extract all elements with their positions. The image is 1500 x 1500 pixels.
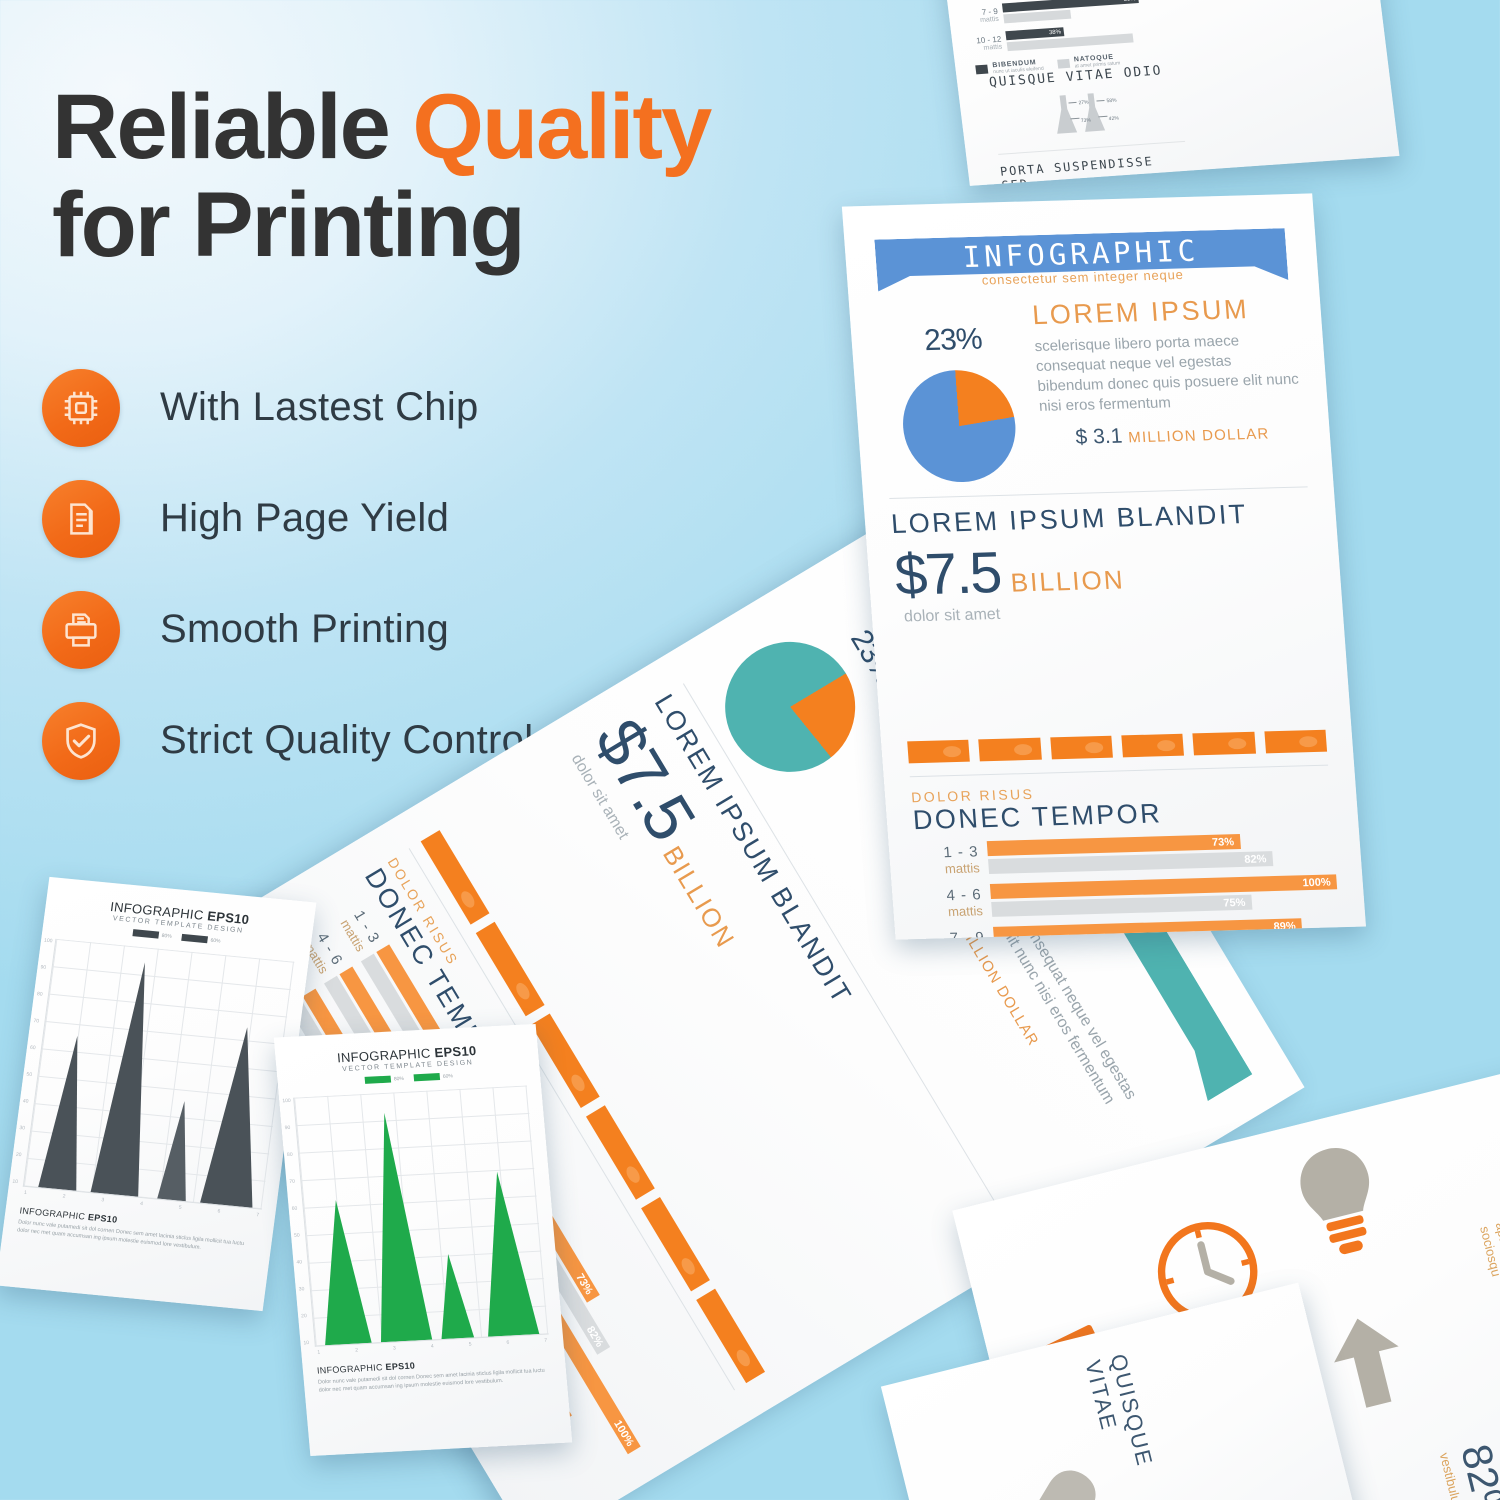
- feature-item-smooth-printing: Smooth Printing: [42, 574, 742, 685]
- sheet-peak-chart-green: INFOGRAPHIC EPS10 VECTOR TEMPLATE DESIGN…: [274, 1024, 572, 1456]
- feature-item-chip: With Lastest Chip: [42, 352, 742, 463]
- shield-check-icon: [42, 702, 120, 780]
- svg-text:58%: 58%: [1107, 98, 1118, 105]
- flask-pair-icon: 27% 73% 58% 42%: [1050, 89, 1126, 140]
- pie-chart: [899, 369, 1019, 484]
- bar-value: 89%: [1123, 0, 1136, 2]
- feature-item-page-yield: High Page Yield: [42, 463, 742, 574]
- swatch-bar: [132, 929, 159, 938]
- swatch-bar: [181, 934, 208, 943]
- lorem-title: LOREM IPSUM: [1031, 293, 1295, 331]
- peak-chart-plot: 10090 8070 6050 4030 2010: [293, 1085, 549, 1346]
- lightbulb-icon: [1272, 1129, 1406, 1272]
- bar-category: 4 - 6mattis: [918, 886, 992, 920]
- swatch-item: 60%: [414, 1072, 454, 1081]
- billion-row: $7.5 BILLION: [893, 530, 1316, 609]
- year-column: 2015: [1193, 732, 1256, 755]
- divider: [910, 765, 1328, 778]
- bar-value: 82%: [1244, 853, 1267, 866]
- lorem-body: scelerisque libero porta maece consequat…: [1034, 330, 1302, 417]
- peak-series-green: [294, 1085, 549, 1345]
- pct-column: 23%: [875, 300, 1038, 484]
- bar-category-range: 1 - 3: [915, 843, 979, 862]
- swatch-bar: [414, 1073, 441, 1081]
- peak-chart-plot: 10090 8070 6050 4030 2010: [23, 939, 295, 1210]
- bar-category-unit: mattis: [916, 860, 980, 877]
- swatch-item: 80%: [365, 1075, 405, 1084]
- topright-title-porta: PORTA SUSPENDISSE SED: [999, 152, 1189, 186]
- sheet-grayscale-top-right: DOLOR RISUS DONEC TEMPOR 1 - 3 mattis 73…: [935, 0, 1400, 186]
- legend-swatch: [1057, 59, 1070, 69]
- billion-value: $7.5: [893, 539, 1003, 609]
- svg-text:42%: 42%: [1109, 115, 1120, 122]
- bar-value: 89%: [1273, 920, 1296, 933]
- cpu-chip-icon: [42, 369, 120, 447]
- poster-canvas: Reliable Quality for Printing With Laste…: [0, 0, 1500, 1500]
- money-unit: MILLION DOLLAR: [1128, 426, 1270, 447]
- year-column: 2011: [907, 740, 970, 763]
- page-title: Reliable Quality for Printing: [52, 78, 932, 275]
- bar-category: 7 - 9 mattis: [968, 6, 1004, 24]
- bar-value: 75%: [1223, 896, 1246, 909]
- money-line: $ 3.1 MILLION DOLLAR: [1041, 420, 1305, 451]
- document-pages-icon: [42, 480, 120, 558]
- percent-value: 23: [923, 323, 957, 357]
- text-column: LOREM IPSUM scelerisque libero porta mae…: [1025, 293, 1306, 480]
- year-column: 2013: [1050, 736, 1113, 759]
- bar-category-range: 4 - 6: [918, 886, 982, 905]
- topright-right-column: QUISQUE VITAE ODIO 27% 73% 58% 42% PORTA…: [988, 62, 1196, 185]
- flask-group: 27% 73% 58% 42%: [991, 85, 1184, 144]
- table-row: 1 - 3mattis 73% 82%: [915, 831, 1336, 879]
- bar-value: 38%: [1049, 29, 1062, 36]
- swatch-item: 60%: [181, 934, 221, 945]
- peak-series-gray: [24, 939, 295, 1209]
- headline-line2: for Printing: [52, 174, 524, 276]
- bar-category: 10 - 12 mattis: [972, 34, 1008, 52]
- divider: [889, 486, 1307, 499]
- year-column: 2016: [1264, 730, 1327, 753]
- swatch-label: 60%: [443, 1073, 454, 1080]
- bar-category-unit: mattis: [969, 16, 999, 25]
- svg-text:27%: 27%: [1079, 100, 1090, 107]
- stat-block-69: 69% aptent taciti sociosqu: [1477, 1209, 1500, 1310]
- printer-icon: [42, 591, 120, 669]
- arrow-up-icon: [1315, 1305, 1422, 1419]
- sheet-peak-chart-gray: INFOGRAPHIC EPS10 VECTOR TEMPLATE DESIGN…: [0, 877, 316, 1311]
- bar-stack: 100% 75%: [990, 874, 1339, 920]
- svg-text:73%: 73%: [1081, 117, 1092, 124]
- stat-block-82: 82% vestibulum: [1436, 1440, 1500, 1500]
- feature-label: High Page Yield: [160, 496, 449, 541]
- summary-block: 23% LOREM IPSUM scelerisque libero porta…: [875, 293, 1306, 484]
- feature-label: With Lastest Chip: [160, 385, 479, 430]
- swatch-item: 80%: [132, 929, 172, 940]
- year-bar-chart: 2011 2012 2013 2014 2015 2016: [900, 631, 1327, 762]
- eps-footer: INFOGRAPHIC EPS10 Dolor nunc vale putame…: [317, 1353, 553, 1395]
- billion-unit: BILLION: [1010, 564, 1126, 598]
- sheet-infographic-main: INFOGRAPHIC consectetur sem integer nequ…: [842, 193, 1366, 939]
- bar-stack: 38%: [1005, 21, 1161, 54]
- legend-swatch: [975, 65, 988, 75]
- year-column: 2012: [979, 738, 1042, 761]
- bar-stack: 73% 82%: [987, 831, 1336, 877]
- headline-line1-plain: Reliable: [52, 76, 412, 178]
- table-row: 10 - 12 mattis 38%: [971, 21, 1161, 56]
- money-value: $ 3.1: [1075, 425, 1123, 449]
- feature-label: Strict Quality Control: [160, 718, 533, 763]
- swatch-label: 80%: [394, 1075, 405, 1082]
- bar-value: 100%: [1302, 876, 1331, 889]
- eps-header: INFOGRAPHIC EPS10 VECTOR TEMPLATE DESIGN…: [289, 1041, 526, 1088]
- percent-symbol: %: [955, 323, 983, 357]
- headline-percent: 23%: [875, 300, 1029, 364]
- feature-label: Smooth Printing: [160, 607, 449, 652]
- headline-line1-accent: Quality: [412, 76, 710, 178]
- bar-category: 1 - 3mattis: [915, 843, 989, 877]
- year-column: 2014: [1121, 734, 1184, 757]
- table-row: 4 - 6mattis 100% 75%: [918, 874, 1339, 922]
- bar-category-unit: mattis: [919, 903, 983, 920]
- swatch-bar: [365, 1076, 392, 1084]
- swatch-label: 60%: [210, 937, 221, 944]
- swatch-label: 80%: [161, 932, 172, 939]
- bar-value: 73%: [1212, 836, 1235, 849]
